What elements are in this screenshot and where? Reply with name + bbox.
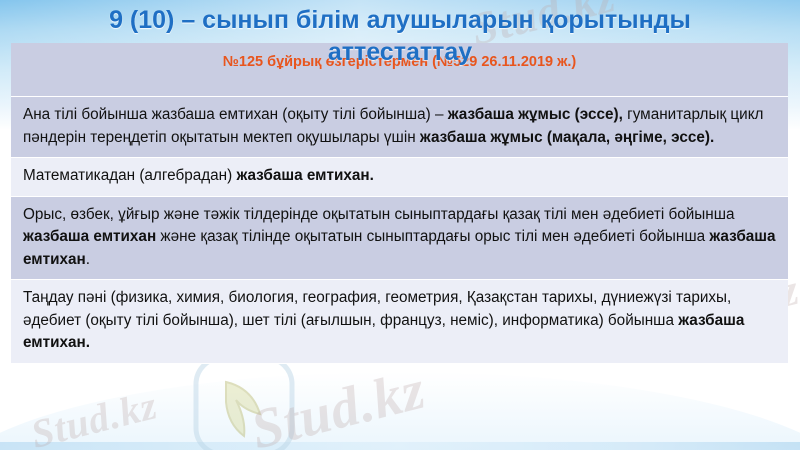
table-row: Таңдау пәні (физика, химия, биология, ге… — [11, 280, 788, 364]
row-text: Математикадан (алгебрадан) — [23, 167, 236, 184]
table-body: Ана тілі бойынша жазбаша емтихан (оқыту … — [11, 97, 788, 364]
table-row: Математикадан (алгебрадан) жазбаша емтих… — [11, 158, 788, 197]
row-text-emphasis: жазбаша емтихан. — [236, 167, 373, 184]
slide-canvas: Stud.kz Stud.kz Stud.kz Stud.kz Stud.kz … — [0, 0, 800, 450]
exam-requirements-table: №125 бұйрық өзгерістермен (№529 26.11.20… — [11, 43, 788, 364]
page-title: 9 (10) – сынып білім алушыларын қорытынд… — [60, 4, 740, 68]
row-text-emphasis: жазбаша жұмыс (эссе), — [448, 106, 623, 123]
row-text: және қазақ тілінде оқытатын сыныптардағы… — [156, 228, 709, 245]
table-row: Орыс, өзбек, ұйғыр және тәжік тілдерінде… — [11, 197, 788, 281]
row-text-emphasis: жазбаша емтихан — [23, 228, 156, 245]
row-text: Орыс, өзбек, ұйғыр және тәжік тілдерінде… — [23, 206, 735, 223]
row-text: . — [86, 251, 90, 268]
table-row: Ана тілі бойынша жазбаша емтихан (оқыту … — [11, 97, 788, 158]
row-text-emphasis: жазбаша жұмыс (мақала, әңгіме, эссе). — [420, 129, 714, 146]
row-text: Таңдау пәні (физика, химия, биология, ге… — [23, 289, 731, 329]
row-text: Ана тілі бойынша жазбаша емтихан (оқыту … — [23, 106, 448, 123]
